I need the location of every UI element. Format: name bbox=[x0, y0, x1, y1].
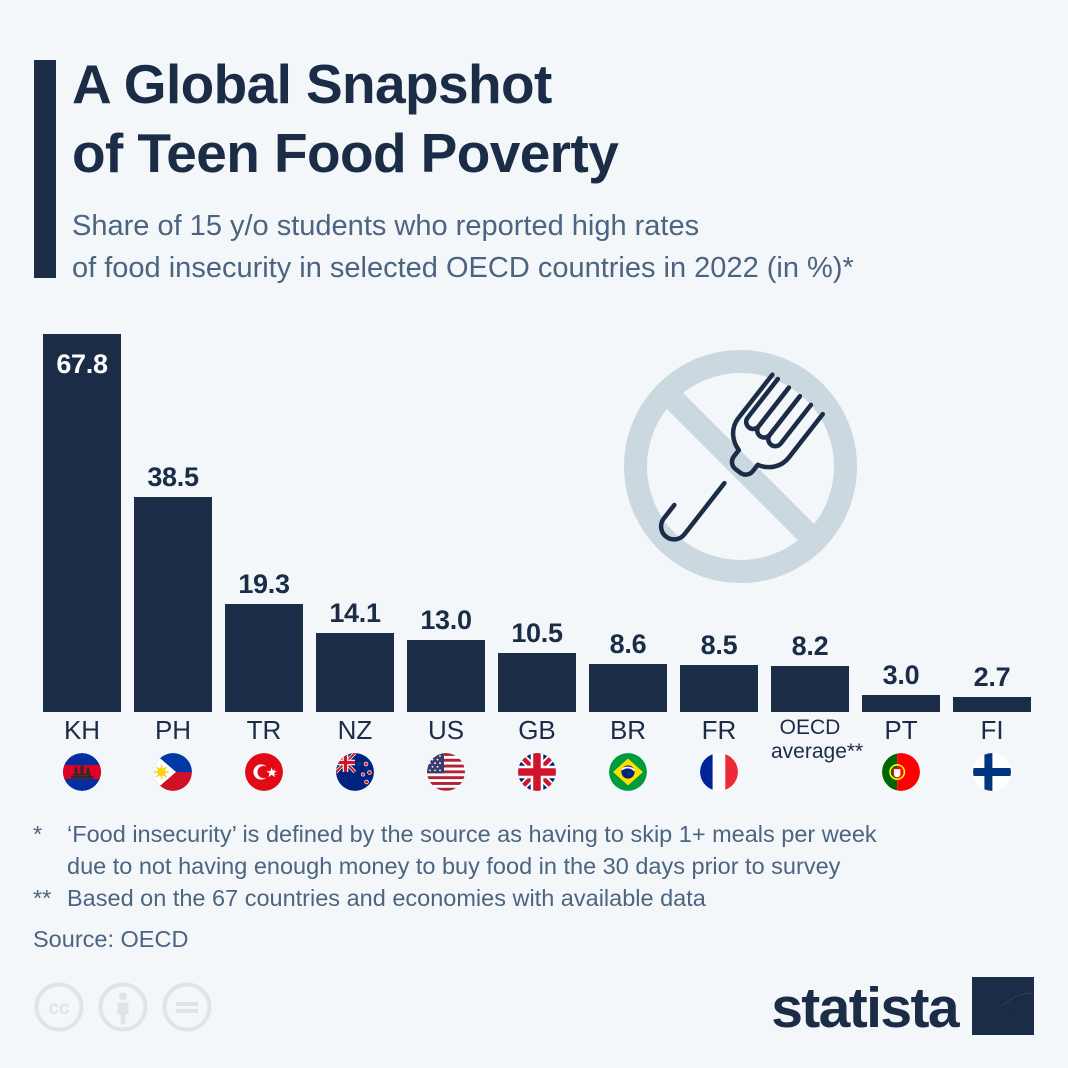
statista-mark-icon bbox=[972, 977, 1034, 1040]
axis-item: US bbox=[407, 716, 485, 791]
axis-label: OECD average** bbox=[771, 716, 849, 763]
axis-label: PH bbox=[134, 716, 212, 745]
bar-chart: 67.838.519.314.113.010.58.68.58.23.02.7 … bbox=[0, 318, 1068, 808]
bar-value-label: 3.0 bbox=[862, 660, 940, 691]
axis-item: NZ bbox=[316, 716, 394, 791]
bar-column: 2.7 bbox=[953, 318, 1031, 712]
source-line: Source: OECD bbox=[33, 926, 1043, 953]
united-states-flag-icon bbox=[427, 753, 465, 791]
axis-label: BR bbox=[589, 716, 667, 745]
axis-label: FI bbox=[953, 716, 1031, 745]
axis-item: PT bbox=[862, 716, 940, 791]
chart-x-axis: KH PH TR NZ bbox=[43, 716, 1033, 811]
bar-column: 8.2 bbox=[771, 318, 849, 712]
title-accent-bar bbox=[34, 60, 56, 278]
bar-value-label: 19.3 bbox=[225, 569, 303, 600]
france-flag-icon bbox=[700, 753, 738, 791]
svg-text:cc: cc bbox=[48, 998, 70, 1019]
axis-item: PH bbox=[134, 716, 212, 791]
turkey-flag-icon bbox=[245, 753, 283, 791]
bar-tr[interactable] bbox=[225, 604, 303, 712]
cambodia-flag-icon bbox=[63, 753, 101, 791]
bar-nz[interactable] bbox=[316, 633, 394, 712]
axis-item: BR bbox=[589, 716, 667, 791]
bar-column: 10.5 bbox=[498, 318, 576, 712]
philippines-flag-icon bbox=[154, 753, 192, 791]
bar-oecd[interactable] bbox=[771, 666, 849, 712]
bar-kh[interactable] bbox=[43, 334, 121, 712]
axis-item: TR bbox=[225, 716, 303, 791]
bar-value-label: 38.5 bbox=[134, 462, 212, 493]
brazil-flag-icon bbox=[609, 753, 647, 791]
bar-value-label: 67.8 bbox=[43, 349, 121, 380]
footnote-2: ** Based on the 67 countries and economi… bbox=[33, 882, 1043, 914]
bar-column: 19.3 bbox=[225, 318, 303, 712]
new-zealand-flag-icon bbox=[336, 753, 374, 791]
bar-br[interactable] bbox=[589, 664, 667, 712]
bar-value-label: 2.7 bbox=[953, 662, 1031, 693]
creative-commons-icon: cc bbox=[33, 981, 85, 1033]
infographic: A Global Snapshot of Teen Food Poverty S… bbox=[0, 0, 1068, 1068]
footnote-2-marker: ** bbox=[33, 882, 67, 914]
statista-logo[interactable]: statista bbox=[771, 977, 1034, 1040]
header: A Global Snapshot of Teen Food Poverty S… bbox=[34, 58, 1034, 283]
axis-label: NZ bbox=[316, 716, 394, 745]
footnotes: * ‘Food insecurity’ is defined by the so… bbox=[33, 818, 1043, 953]
bar-us[interactable] bbox=[407, 640, 485, 712]
no-derivatives-icon bbox=[161, 981, 213, 1033]
bar-value-label: 8.6 bbox=[589, 629, 667, 660]
bar-fi[interactable] bbox=[953, 697, 1031, 712]
bar-column: 67.8 bbox=[43, 318, 121, 712]
axis-item: FR bbox=[680, 716, 758, 791]
statista-wordmark: statista bbox=[771, 980, 958, 1037]
axis-item: KH bbox=[43, 716, 121, 791]
axis-label: US bbox=[407, 716, 485, 745]
bar-value-label: 13.0 bbox=[407, 605, 485, 636]
axis-label: PT bbox=[862, 716, 940, 745]
footnote-1-marker: * bbox=[33, 818, 67, 850]
bar-ph[interactable] bbox=[134, 497, 212, 712]
axis-label: KH bbox=[43, 716, 121, 745]
united-kingdom-flag-icon bbox=[518, 753, 556, 791]
bar-value-label: 8.2 bbox=[771, 631, 849, 662]
axis-item: GB bbox=[498, 716, 576, 791]
axis-item: FI bbox=[953, 716, 1031, 791]
portugal-flag-icon bbox=[882, 753, 920, 791]
page-subtitle: Share of 15 y/o students who reported hi… bbox=[72, 205, 854, 290]
axis-label: TR bbox=[225, 716, 303, 745]
footnote-1-text: ‘Food insecurity’ is defined by the sour… bbox=[67, 818, 1043, 882]
bar-column: 13.0 bbox=[407, 318, 485, 712]
attribution-icon bbox=[97, 981, 149, 1033]
bar-gb[interactable] bbox=[498, 653, 576, 712]
finland-flag-icon bbox=[973, 753, 1011, 791]
bar-pt[interactable] bbox=[862, 695, 940, 712]
bar-value-label: 10.5 bbox=[498, 618, 576, 649]
bar-column: 8.6 bbox=[589, 318, 667, 712]
bar-column: 3.0 bbox=[862, 318, 940, 712]
footnote-1: * ‘Food insecurity’ is defined by the so… bbox=[33, 818, 1043, 882]
page-title: A Global Snapshot of Teen Food Poverty bbox=[72, 50, 618, 188]
axis-label: FR bbox=[680, 716, 758, 745]
footnote-2-text: Based on the 67 countries and economies … bbox=[67, 882, 1043, 914]
bar-value-label: 14.1 bbox=[316, 598, 394, 629]
creative-commons-license[interactable]: cc bbox=[33, 981, 213, 1033]
chart-plot-area: 67.838.519.314.113.010.58.68.58.23.02.7 bbox=[43, 318, 1033, 712]
axis-item: OECD average** bbox=[771, 716, 849, 763]
bar-fr[interactable] bbox=[680, 665, 758, 712]
footer: cc statista bbox=[0, 975, 1068, 1055]
axis-label: GB bbox=[498, 716, 576, 745]
bar-column: 8.5 bbox=[680, 318, 758, 712]
bar-value-label: 8.5 bbox=[680, 630, 758, 661]
bar-column: 38.5 bbox=[134, 318, 212, 712]
bar-column: 14.1 bbox=[316, 318, 394, 712]
